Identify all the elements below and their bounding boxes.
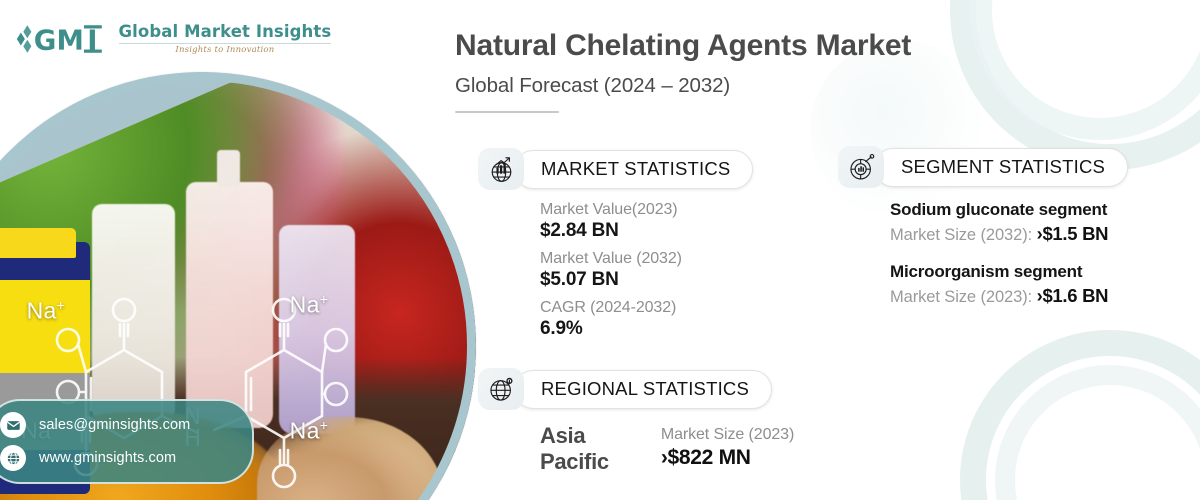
market-stat-item: CAGR (2024-2032) 6.9% xyxy=(540,299,753,340)
market-stat-label: CAGR (2024-2032) xyxy=(540,299,753,317)
segment-statistics-section: SEGMENT STATISTICS Sodium gluconate segm… xyxy=(838,146,1128,307)
page-title: Natural Chelating Agents Market xyxy=(455,28,911,65)
headline-block: Natural Chelating Agents Market Global F… xyxy=(455,28,911,113)
contact-email-row[interactable]: sales@gminsights.com xyxy=(0,412,234,438)
brand-logo-text: Global Market Insights Insights to Innov… xyxy=(119,24,332,55)
svg-text:M: M xyxy=(56,25,83,56)
brand-name: Global Market Insights xyxy=(119,24,332,41)
segment-name: Microorganism segment xyxy=(890,262,1128,282)
segment-size-line: Market Size (2023): ›$1.6 BN xyxy=(890,285,1128,307)
market-statistics-header: MARKET STATISTICS xyxy=(478,148,753,190)
market-statistics-heading: MARKET STATISTICS xyxy=(541,158,730,180)
market-statistics-list: Market Value(2023) $2.84 BN Market Value… xyxy=(540,201,753,340)
market-stat-value: 6.9% xyxy=(540,318,753,340)
segment-stat-item: Microorganism segment Market Size (2023)… xyxy=(890,262,1128,307)
envelope-icon xyxy=(0,412,26,438)
chevron-right-icon: › xyxy=(661,446,668,469)
regional-region-line1: Asia xyxy=(540,423,609,449)
decorative-arc-bottom-1 xyxy=(960,330,1200,500)
decorative-arc-top-2 xyxy=(970,0,1200,140)
contact-website-text: www.gminsights.com xyxy=(39,450,176,466)
headline-divider xyxy=(455,111,559,113)
decorative-arc-top-1 xyxy=(950,0,1200,170)
segment-statistics-list: Sodium gluconate segment Market Size (20… xyxy=(890,200,1128,307)
gmi-logo-mark-icon: G M I xyxy=(16,22,112,56)
regional-region-line2: Pacific xyxy=(540,449,609,475)
contact-website-row[interactable]: www.gminsights.com xyxy=(0,445,234,471)
globe-icon xyxy=(0,445,26,471)
segment-statistics-header: SEGMENT STATISTICS xyxy=(838,146,1128,188)
regional-statistics-section: REGIONAL STATISTICS Asia Pacific Market … xyxy=(478,368,794,474)
segment-size-amount: $1.5 BN xyxy=(1042,223,1108,244)
brand-tagline: Insights to Innovation xyxy=(119,46,332,55)
regional-size-block: Market Size (2023) ›$822 MN xyxy=(661,423,794,470)
segment-statistics-pill: SEGMENT STATISTICS xyxy=(874,148,1128,187)
infographic-root: N H xyxy=(0,0,1200,500)
regional-region-name: Asia Pacific xyxy=(540,423,609,474)
segment-size-label: Market Size (2023): xyxy=(890,288,1032,306)
regional-size-label: Market Size (2023) xyxy=(661,426,794,444)
regional-size-value: ›$822 MN xyxy=(661,446,794,470)
contact-email-text: sales@gminsights.com xyxy=(39,417,190,433)
page-subtitle: Global Forecast (2024 – 2032) xyxy=(455,74,911,98)
segment-stat-item: Sodium gluconate segment Market Size (20… xyxy=(890,200,1128,245)
brand-divider xyxy=(119,43,332,44)
segment-name: Sodium gluconate segment xyxy=(890,200,1128,220)
segment-size-line: Market Size (2032): ›$1.5 BN xyxy=(890,223,1128,245)
regional-statistics-body: Asia Pacific Market Size (2023) ›$822 MN xyxy=(540,423,794,474)
decorative-arc-bottom-2 xyxy=(995,365,1200,500)
market-stat-label: Market Value (2032) xyxy=(540,250,753,268)
globe-bar-chart-icon xyxy=(478,148,524,190)
segment-statistics-heading: SEGMENT STATISTICS xyxy=(901,156,1105,178)
svg-text:G: G xyxy=(34,25,57,56)
segment-size-amount: $1.6 BN xyxy=(1042,285,1108,306)
segment-size-value: ›$1.5 BN xyxy=(1037,223,1109,244)
market-statistics-pill: MARKET STATISTICS xyxy=(514,150,753,189)
market-stat-value: $5.07 BN xyxy=(540,269,753,291)
market-stat-label: Market Value(2023) xyxy=(540,201,753,219)
segment-size-label: Market Size (2032): xyxy=(890,226,1032,244)
market-stat-item: Market Value (2032) $5.07 BN xyxy=(540,250,753,291)
market-statistics-section: MARKET STATISTICS Market Value(2023) $2.… xyxy=(478,148,753,340)
pie-chart-growth-icon xyxy=(838,146,884,188)
market-stat-item: Market Value(2023) $2.84 BN xyxy=(540,201,753,242)
market-stat-value: $2.84 BN xyxy=(540,220,753,242)
contact-panel: sales@gminsights.com www.gminsights.com xyxy=(0,399,254,484)
globe-pin-icon xyxy=(478,368,524,410)
segment-size-value: ›$1.6 BN xyxy=(1037,285,1109,306)
regional-size-amount: $822 MN xyxy=(668,446,751,469)
regional-statistics-pill: REGIONAL STATISTICS xyxy=(514,370,772,409)
regional-statistics-header: REGIONAL STATISTICS xyxy=(478,368,772,410)
brand-logo[interactable]: G M I Global Market Insights Insights to… xyxy=(16,22,331,56)
regional-statistics-heading: REGIONAL STATISTICS xyxy=(541,378,749,400)
